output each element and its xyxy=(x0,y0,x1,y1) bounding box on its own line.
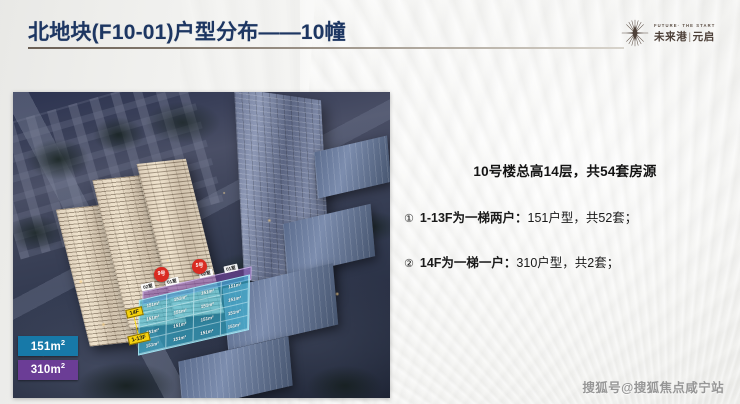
info-panel: 10号楼总高14层，共54套房源 ① 1-13F为一梯两户：151户型，共52套… xyxy=(404,160,734,271)
building-badge-9: 9号 xyxy=(154,267,169,282)
page-title: 北地块(F10-01)户型分布——10幢 xyxy=(28,16,346,46)
list-item-marker-1: ① xyxy=(404,212,414,225)
building-badge-5: 5号 xyxy=(192,259,207,274)
info-list: ① 1-13F为一梯两户：151户型，共52套； ② 14F为一梯一户：310户… xyxy=(404,207,734,271)
slide-root: 北地块(F10-01)户型分布——10幢 xyxy=(0,0,740,404)
slide-header: 北地块(F10-01)户型分布——10幢 xyxy=(0,0,740,62)
list-item-rest-1: 151户型，共52套； xyxy=(528,211,638,225)
legend-item-310: 310m2 xyxy=(18,360,78,380)
legend-310-superscript: 2 xyxy=(61,361,65,370)
area-legend: 151m2 310m2 xyxy=(18,336,78,380)
legend-151-superscript: 2 xyxy=(61,338,65,347)
brand-text-block: FUTURE· THE START 未来港|元启 xyxy=(654,23,715,44)
list-item-text-1: 1-13F为一梯两户：151户型，共52套； xyxy=(420,207,637,226)
list-item: ② 14F为一梯一户：310户型，共2套； xyxy=(404,252,734,271)
starburst-icon xyxy=(620,18,650,48)
brand-english-tagline: FUTURE· THE START xyxy=(654,22,715,28)
legend-151-label: 151m xyxy=(31,340,61,352)
legend-item-151: 151m2 xyxy=(18,336,78,356)
brand-chinese-right: 元启 xyxy=(693,31,715,43)
list-item-rest-2: 310户型，共2套； xyxy=(516,256,619,270)
list-item-strong-2: 14F为一梯一户： xyxy=(420,256,517,270)
legend-310-label: 310m xyxy=(31,364,61,376)
watermark-text: 搜狐号@搜狐焦点咸宁站 xyxy=(582,377,724,396)
list-item-marker-2: ② xyxy=(404,257,414,270)
brand-logo: FUTURE· THE START 未来港|元启 xyxy=(620,16,728,50)
list-item: ① 1-13F为一梯两户：151户型，共52套； xyxy=(404,207,734,226)
list-item-text-2: 14F为一梯一户：310户型，共2套； xyxy=(420,252,619,271)
list-item-strong-1: 1-13F为一梯两户： xyxy=(420,211,528,225)
brand-chinese-left: 未来港 xyxy=(654,31,687,43)
brand-chinese-name: 未来港|元启 xyxy=(654,29,715,44)
brand-separator: | xyxy=(688,31,691,43)
title-underline-rule xyxy=(28,47,624,49)
info-heading: 10号楼总高14层，共54套房源 xyxy=(404,160,734,180)
